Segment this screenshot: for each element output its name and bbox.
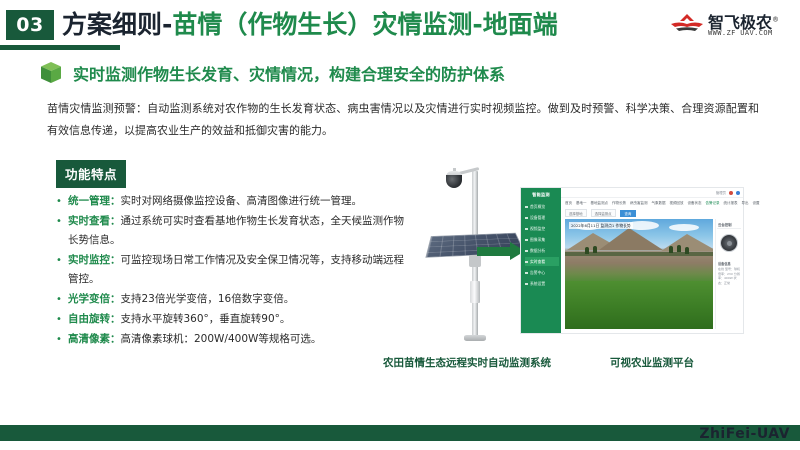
filter-select-point[interactable]: 选择监测点 — [591, 209, 616, 217]
tree-shape — [677, 245, 681, 252]
feature-item: •实时查看：通过系统可实时查看基地作物生长发育状态，全天候监测作物长势信息。 — [52, 212, 412, 250]
feature-item: •实时监控：可监控现场日常工作情况及安全保卫情况等，支持移动端远程管控。 — [52, 251, 412, 289]
feature-separator: ： — [110, 195, 121, 207]
tree-shape — [669, 246, 673, 253]
menu-item-10[interactable]: 导出 — [742, 201, 749, 206]
ptz-joystick-dial-icon[interactable] — [721, 235, 737, 251]
feature-key: 统一管理 — [68, 195, 110, 207]
sidebar-item-1[interactable]: 设备管理 — [525, 213, 559, 222]
feature-item: •光学变倍：支持23倍光学变倍，16倍数字变倍。 — [52, 290, 412, 309]
right-panel-title: 云台控制 — [718, 222, 732, 227]
menu-item-4[interactable]: 病虫害监测 — [630, 201, 648, 206]
monitoring-platform-screenshot: 智能监测 首页概览 设备管理 视频监控 图像采集 数据分析 实时查看 告警中心 … — [521, 188, 743, 333]
feature-separator: ： — [110, 293, 121, 305]
avatar-icon[interactable] — [736, 191, 740, 195]
feature-item: •高清像素：高清像素球机：200W/400W等规格可选。 — [52, 330, 412, 349]
tree-shape — [593, 246, 597, 253]
bell-icon[interactable] — [729, 191, 733, 195]
platform-sidebar: 智能监测 首页概览 设备管理 视频监控 图像采集 数据分析 实时查看 告警中心 … — [521, 188, 561, 333]
menu-item-8[interactable]: 告警记录 — [706, 201, 720, 206]
features-list: •统一管理：实时对网络摄像监控设备、高清图像进行统一管理。 •实时查看：通过系统… — [52, 192, 412, 350]
tree-shape — [685, 247, 689, 254]
ptz-dome-camera-icon — [446, 175, 462, 188]
features-label-badge: 功能特点 — [56, 160, 126, 188]
feature-key: 实时监控 — [68, 254, 110, 266]
header-underline-rule — [0, 45, 120, 50]
footer-watermark: ZhiFei-UAV — [699, 426, 790, 442]
platform-menu-row: 首页 基地一 基地监测点 作物长势 病虫害监测 气象数据 视频回放 设备状态 告… — [565, 199, 741, 207]
mountain-shape — [599, 228, 663, 250]
eagle-wings-icon — [670, 12, 704, 36]
feature-value: 支持水平旋转360°，垂直旋转90°。 — [121, 313, 291, 325]
bullet-icon: • — [56, 330, 62, 349]
pole-collar — [470, 281, 480, 303]
feature-separator: ： — [110, 333, 121, 345]
menu-item-2[interactable]: 基地监测点 — [591, 201, 609, 206]
search-button[interactable]: 查询 — [620, 210, 637, 217]
feature-key: 实时查看 — [68, 215, 110, 227]
sidebar-title: 智能监测 — [521, 192, 561, 198]
sidebar-item-3[interactable]: 图像采集 — [525, 235, 559, 244]
right-panel-divider — [717, 228, 741, 229]
menu-item-11[interactable]: 设置 — [753, 201, 760, 206]
sidebar-item-0[interactable]: 首页概览 — [525, 202, 559, 211]
right-arrow-icon — [477, 242, 527, 260]
section-title-text: 实时监测作物生长发育、灾情情况，构建合理安全的防护体系 — [73, 61, 505, 85]
platform-right-panel: 云台控制 设备信息 在线 型号：球机 倍率：23X 分辨率：400W 状态：正常 — [715, 219, 741, 329]
bullet-icon: • — [56, 310, 62, 329]
caption-platform: 可视农业监测平台 — [610, 355, 694, 370]
brand-logo: 智飞极农® WWW.ZF UAV.COM — [670, 8, 792, 44]
page-title: 方案细则-苗情（作物生长）灾情监测-地面端 — [62, 6, 558, 44]
photo-overlay-caption: 2022年6月11日 监测点1 作物长势 — [569, 222, 633, 229]
menu-item-7[interactable]: 设备状态 — [688, 201, 702, 206]
page-title-highlight: 苗情（作物生长）灾情监测-地面端 — [172, 10, 557, 39]
bullet-icon: • — [56, 192, 62, 211]
topbar-user-label[interactable]: 管理员 — [716, 190, 726, 195]
feature-item: •自由旋转：支持水平旋转360°，垂直旋转90°。 — [52, 310, 412, 329]
section-intro-paragraph: 苗情灾情监测预警：自动监测系统对农作物的生长发育状态、病虫害情况以及灾情进行实时… — [47, 98, 759, 142]
sidebar-item-4[interactable]: 数据分析 — [525, 246, 559, 255]
menu-item-0[interactable]: 首页 — [565, 201, 572, 206]
caption-device: 农田苗情生态远程实时自动监测系统 — [383, 355, 551, 370]
bullet-icon: • — [56, 212, 62, 231]
arrow-shaft — [477, 247, 511, 256]
feature-value: 高清像素球机：200W/400W等规格可选。 — [121, 333, 322, 345]
feature-value: 支持23倍光学变倍，16倍数字变倍。 — [121, 293, 295, 305]
platform-topbar: 管理员 — [561, 188, 743, 198]
bullet-icon: • — [56, 251, 62, 270]
section-number-badge: 03 — [6, 10, 54, 40]
menu-item-3[interactable]: 作物长势 — [612, 201, 626, 206]
feature-key: 光学变倍 — [68, 293, 110, 305]
sidebar-item-7[interactable]: 系统设置 — [525, 279, 559, 288]
feature-separator: ： — [110, 254, 121, 266]
right-panel-subtitle: 设备信息 — [718, 261, 731, 266]
right-panel-device-info: 在线 型号：球机 倍率：23X 分辨率：400W 状态：正常 — [718, 267, 740, 285]
pole-base — [464, 335, 486, 341]
topbar-right-group: 管理员 — [716, 190, 740, 195]
feature-key: 高清像素 — [68, 333, 110, 345]
logo-registered-mark: ® — [772, 16, 779, 24]
live-monitoring-photo[interactable]: 2022年6月11日 监测点1 作物长势 — [565, 219, 713, 329]
menu-item-1[interactable]: 基地一 — [576, 201, 587, 206]
feature-separator: ： — [110, 215, 121, 227]
platform-filter-row: 选择基地 选择监测点 查询 — [565, 209, 741, 217]
tree-shape — [585, 247, 589, 254]
crop-field-area — [565, 281, 713, 329]
sidebar-item-2[interactable]: 视频监控 — [525, 224, 559, 233]
bullet-icon: • — [56, 290, 62, 309]
footer-bar — [0, 425, 800, 441]
menu-item-5[interactable]: 气象数据 — [652, 201, 666, 206]
menu-item-6[interactable]: 视频回放 — [670, 201, 684, 206]
green-cube-icon — [40, 61, 62, 85]
sidebar-item-5[interactable]: 实时查看 — [525, 257, 559, 266]
cloud-shape — [669, 224, 699, 231]
logo-url-text: WWW.ZF UAV.COM — [708, 29, 773, 37]
feature-value: 实时对网络摄像监控设备、高清图像进行统一管理。 — [121, 195, 363, 207]
page-title-prefix: 方案细则- — [62, 10, 172, 39]
feature-separator: ： — [110, 313, 121, 325]
feature-key: 自由旋转 — [68, 313, 110, 325]
filter-select-base[interactable]: 选择基地 — [565, 209, 587, 217]
feature-item: •统一管理：实时对网络摄像监控设备、高清图像进行统一管理。 — [52, 192, 412, 211]
page-header: 03 方案细则-苗情（作物生长）灾情监测-地面端 智飞极农® WWW.ZF UA… — [0, 0, 800, 52]
menu-item-9[interactable]: 统计报表 — [724, 201, 738, 206]
sidebar-item-6[interactable]: 告警中心 — [525, 268, 559, 277]
